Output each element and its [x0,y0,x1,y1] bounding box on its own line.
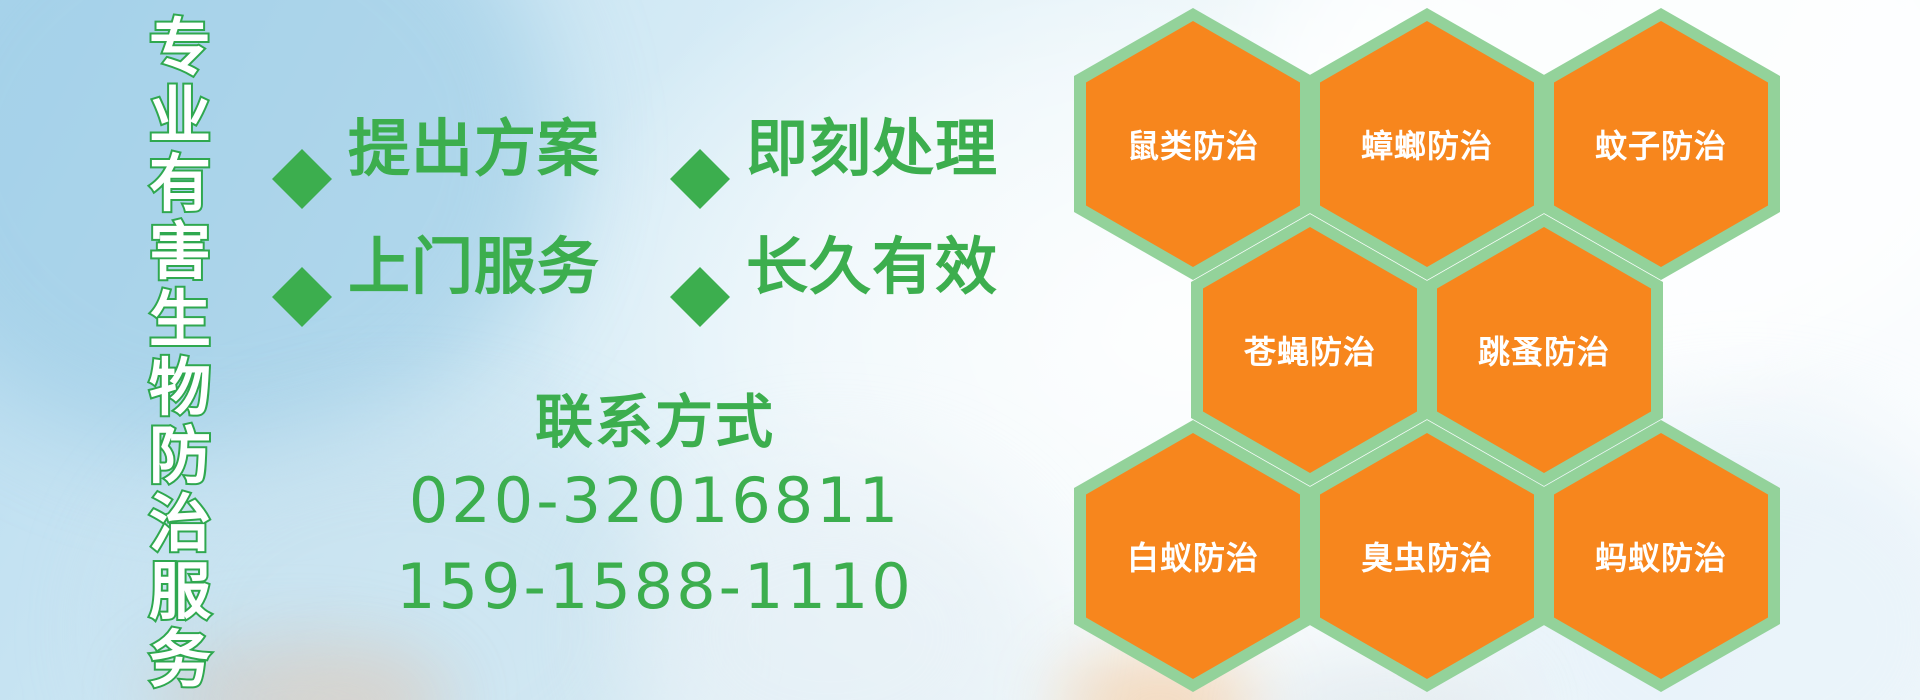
vertical-headline-char: 治 [149,490,211,558]
service-hexagon-grid: 鼠类防治 蟑螂防治 蚊子防治 苍蝇防治 跳蚤防治 白蚁防治 [1058,0,1918,700]
background-smudge [250,660,440,700]
feature-row: 提出方案 即刻处理 [272,90,1062,208]
service-label: 苍蝇防治 [1244,327,1376,373]
feature-item: 提出方案 [272,116,670,182]
service-label: 白蚁防治 [1127,533,1259,579]
contact-title: 联系方式 [310,386,1000,458]
vertical-headline-char: 服 [149,558,211,626]
contact-phone-landline[interactable]: 020-32016811 [310,458,1000,544]
service-label: 臭虫防治 [1361,533,1493,579]
vertical-headline-char: 业 [149,82,211,150]
service-label: 蚊子防治 [1595,121,1727,167]
feature-list: 提出方案 即刻处理 上门服务 长久有效 [272,90,1062,326]
feature-label: 提出方案 [348,116,600,182]
contact-block: 联系方式 020-32016811 159-1588-1110 [310,386,1000,630]
vertical-headline-char: 有 [149,150,211,218]
vertical-headline-char: 生 [149,286,211,354]
service-label: 蟑螂防治 [1361,121,1493,167]
service-label: 鼠类防治 [1127,121,1259,167]
feature-item: 即刻处理 [670,116,998,182]
vertical-headline-char: 害 [149,218,211,286]
hexagon-inner: 跳蚤防治 [1437,227,1651,473]
vertical-headline-char: 务 [149,626,211,694]
hexagon-inner: 蟑螂防治 [1320,21,1534,267]
contact-phone-mobile[interactable]: 159-1588-1110 [310,544,1000,630]
service-label: 跳蚤防治 [1478,327,1610,373]
promo-banner: 专 业 有 害 生 物 防 治 服 务 提出方案 即刻处理 上门服务 [0,0,1920,700]
feature-label: 即刻处理 [746,116,998,182]
service-label: 蚂蚁防治 [1595,533,1727,579]
diamond-bullet-icon [670,237,730,297]
hexagon-inner: 苍蝇防治 [1203,227,1417,473]
vertical-headline-char: 专 [149,14,211,82]
diamond-bullet-icon [272,237,332,297]
diamond-bullet-icon [272,119,332,179]
feature-label: 长久有效 [746,234,998,300]
hexagon-inner: 蚊子防治 [1554,21,1768,267]
vertical-headline: 专 业 有 害 生 物 防 治 服 务 [128,14,232,686]
feature-label: 上门服务 [348,234,600,300]
hexagon-inner: 白蚁防治 [1086,433,1300,679]
hexagon-inner: 蚂蚁防治 [1554,433,1768,679]
vertical-headline-char: 防 [149,422,211,490]
hexagon-inner: 臭虫防治 [1320,433,1534,679]
feature-item: 长久有效 [670,234,998,300]
vertical-headline-char: 物 [149,354,211,422]
feature-row: 上门服务 长久有效 [272,208,1062,326]
diamond-bullet-icon [670,119,730,179]
feature-item: 上门服务 [272,234,670,300]
hexagon-inner: 鼠类防治 [1086,21,1300,267]
